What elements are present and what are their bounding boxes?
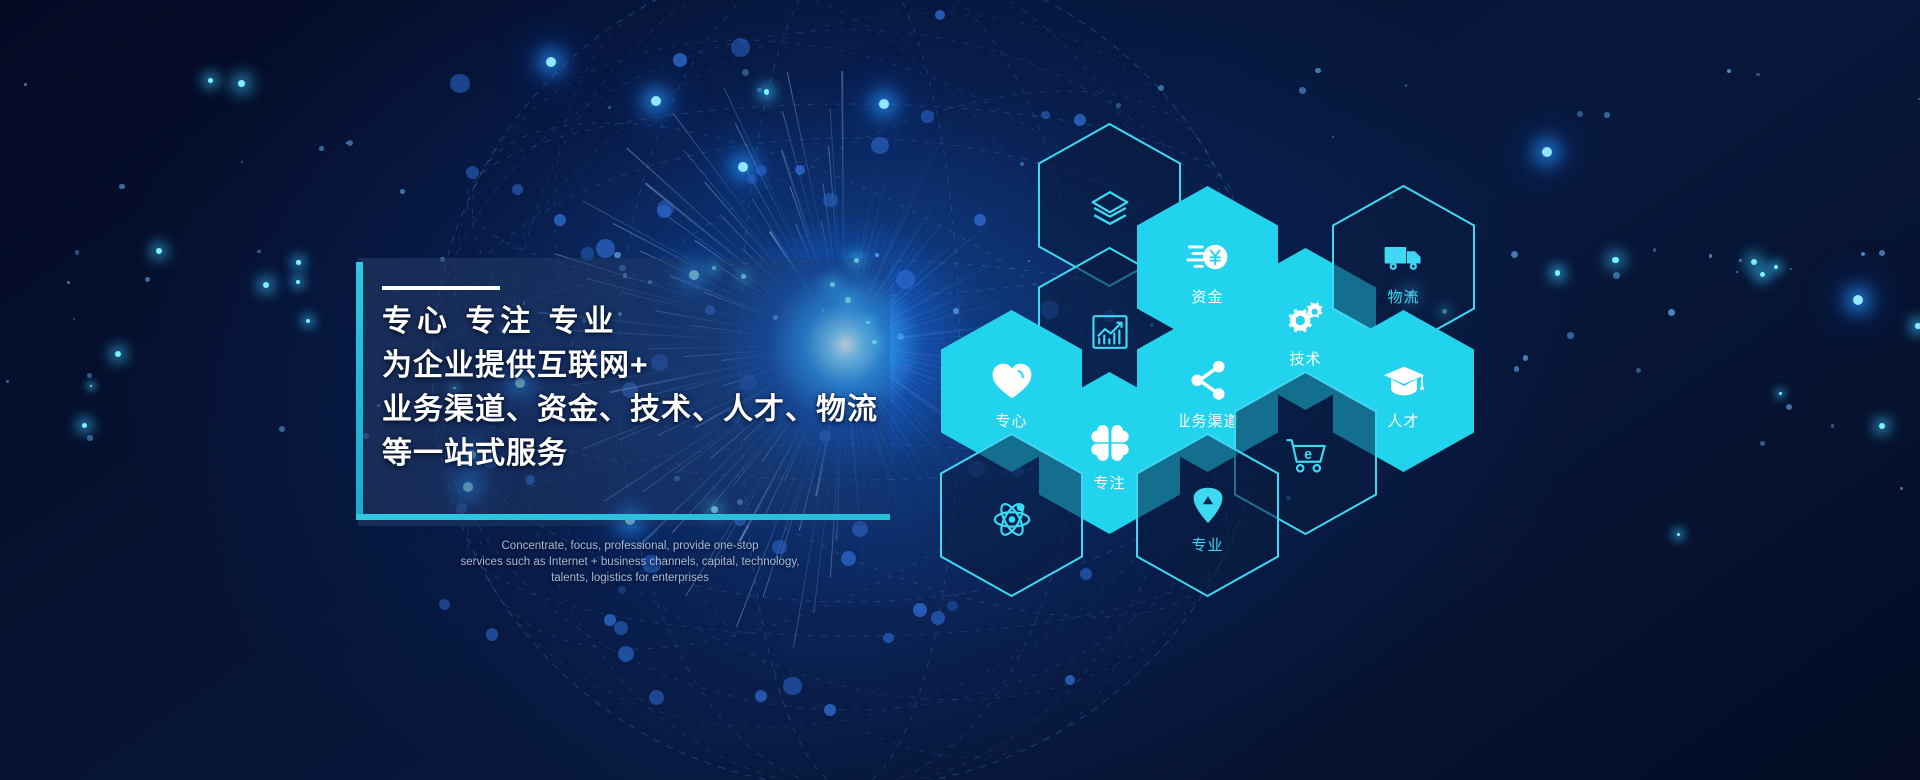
gears-icon (1283, 296, 1329, 342)
hexagon-label: 物流 (1331, 286, 1476, 307)
hexagon-cluster: 资金 技术 物流 (0, 0, 1920, 780)
growth-chart-icon (1087, 309, 1133, 355)
diamond-icon (1185, 482, 1231, 528)
hexagon-icon-wrap (1331, 234, 1476, 280)
hexagon-zhuanye[interactable]: 专业 (1135, 432, 1280, 598)
heart-icon (989, 358, 1035, 404)
money-yen-icon (1185, 234, 1231, 280)
hexagon-label: 专业 (1135, 534, 1280, 555)
hexagon-atom[interactable] (939, 432, 1084, 598)
clover-icon (1087, 420, 1133, 466)
svg-text:e: e (1304, 447, 1312, 463)
graduation-cap-icon (1381, 358, 1427, 404)
promotional-banner: 专心 专注 专业 为企业提供互联网+ 业务渠道、资金、技术、人才、物流 等一站式… (0, 0, 1920, 780)
shopping-cart-e-icon: e (1283, 433, 1329, 479)
hexagon-icon-wrap (1135, 482, 1280, 528)
layers-icon (1087, 185, 1133, 231)
truck-icon (1381, 234, 1427, 280)
hexagon-icon-wrap (939, 495, 1084, 541)
share-node-icon (1185, 358, 1231, 404)
atom-icon (989, 495, 1035, 541)
